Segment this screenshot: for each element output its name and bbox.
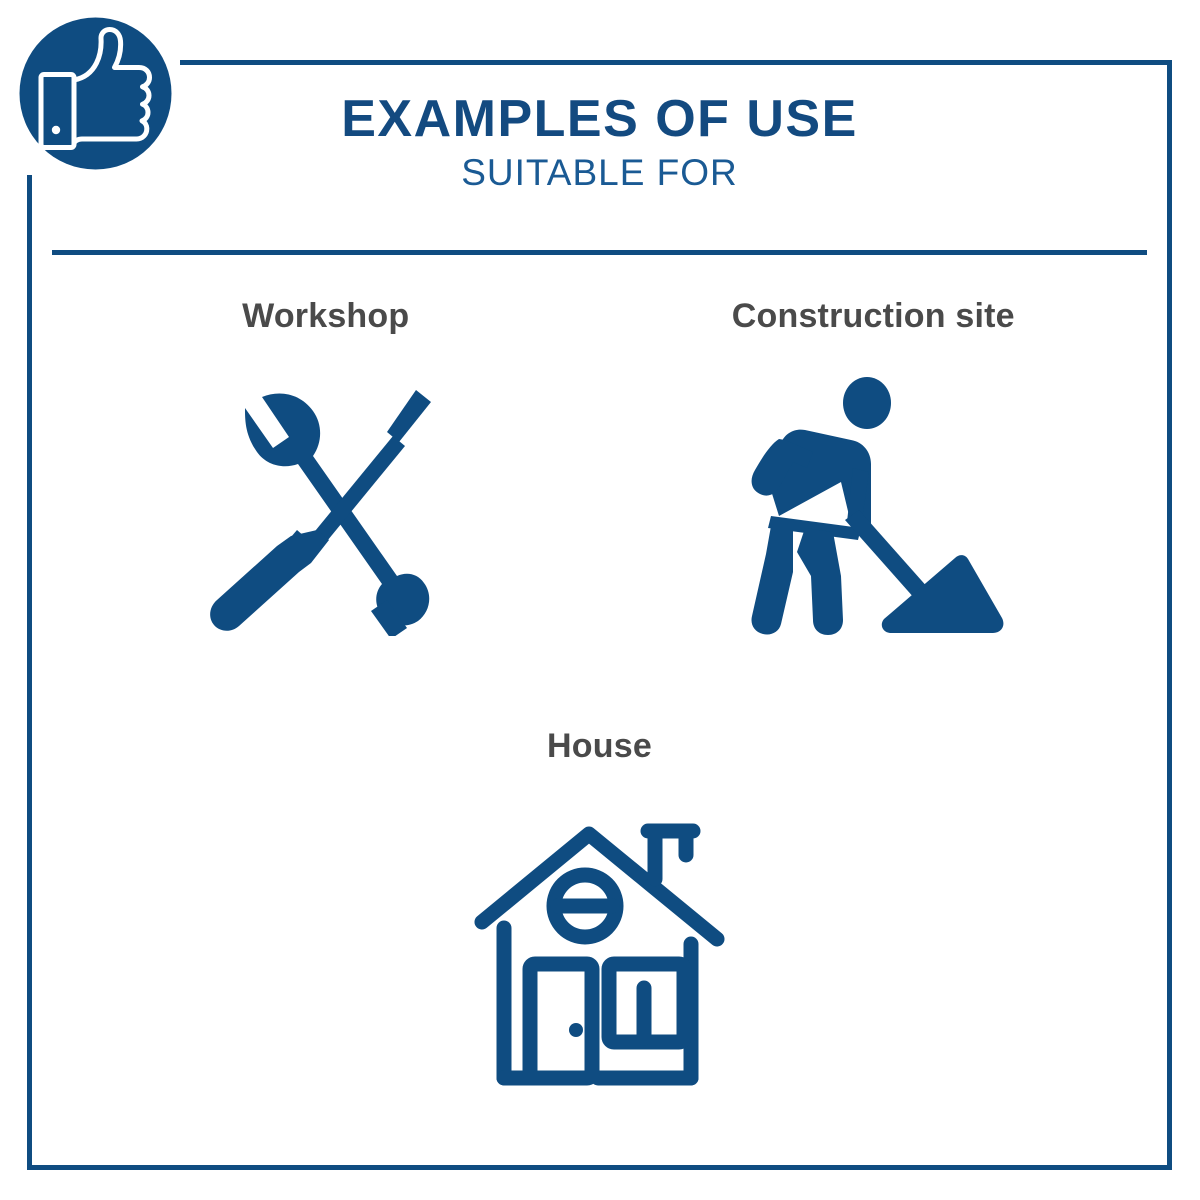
- example-item-construction-site: Construction site: [600, 275, 1148, 705]
- examples-row-bottom: House: [52, 705, 1147, 1135]
- construction-worker-digging-icon: [741, 376, 1006, 636]
- header-block: EXAMPLES OF USE SUITABLE FOR: [52, 92, 1147, 193]
- house-icon-wrap: [472, 816, 727, 1096]
- header-divider: [52, 250, 1147, 255]
- house-icon: [472, 816, 727, 1091]
- example-label-house: House: [547, 727, 652, 766]
- example-item-workshop: Workshop: [52, 275, 600, 705]
- door-knob-icon: [569, 1023, 583, 1037]
- page-subtitle: SUITABLE FOR: [52, 153, 1147, 194]
- workshop-icon-wrap: [201, 376, 451, 641]
- tools-wrench-screwdriver-icon: [201, 376, 451, 636]
- infographic-panel: EXAMPLES OF USE SUITABLE FOR Workshop: [0, 0, 1200, 1200]
- example-label-construction-site: Construction site: [732, 297, 1015, 336]
- example-label-workshop: Workshop: [242, 297, 409, 336]
- examples-grid: Workshop: [52, 275, 1147, 1155]
- construction-icon-wrap: [741, 376, 1006, 641]
- page-title: EXAMPLES OF USE: [52, 92, 1147, 147]
- example-item-house: House: [326, 705, 874, 1135]
- examples-row-top: Workshop: [52, 275, 1147, 705]
